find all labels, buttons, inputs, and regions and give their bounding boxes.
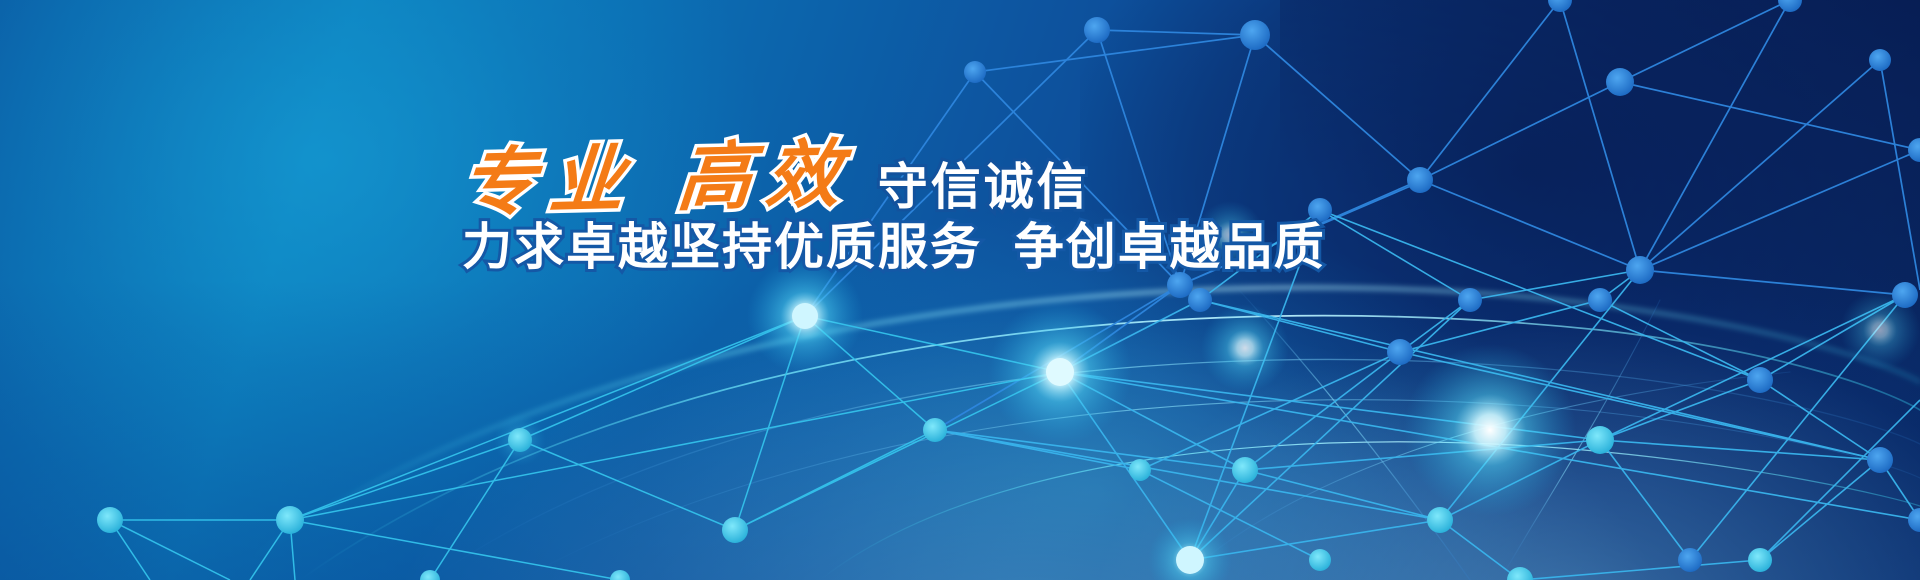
promo-banner: 专业 高效 守信诚信 力求卓越坚持优质服务 争创卓越品质	[0, 0, 1920, 580]
headline-line: 专业 高效 守信诚信	[462, 142, 1090, 216]
banner-copy: 专业 高效 守信诚信 力求卓越坚持优质服务 争创卓越品质	[0, 0, 1920, 580]
headline-secondary: 守信诚信	[878, 162, 1090, 212]
subheadline: 力求卓越坚持优质服务 争创卓越品质	[462, 222, 1326, 272]
headline-highlight: 专业 高效	[459, 137, 858, 221]
